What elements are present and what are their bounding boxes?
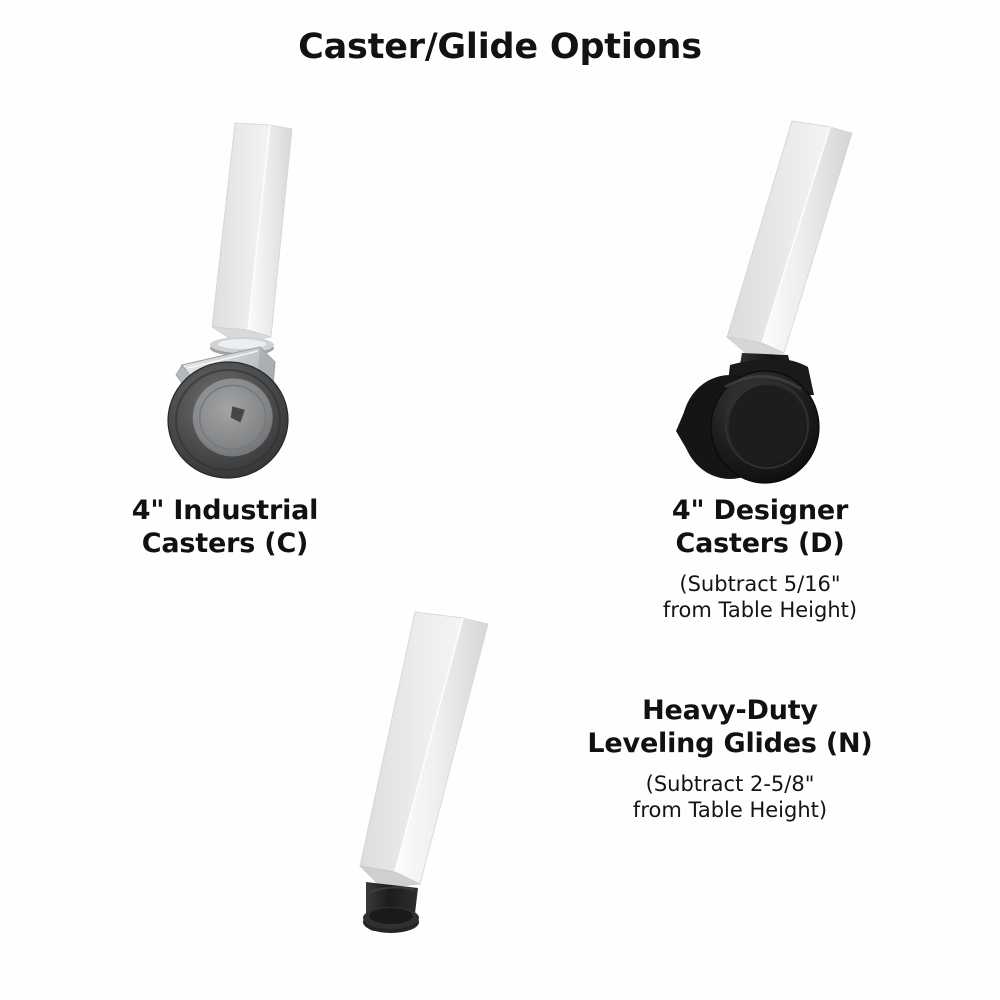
page-title: Caster/Glide Options [0, 28, 1000, 67]
industrial-caster-illustration [140, 115, 360, 485]
designer-caster-illustration [670, 115, 890, 490]
caption-note-glide: (Subtract 2-5/8" from Table Height) [530, 771, 930, 824]
caption-heading-designer: 4" Designer Casters (D) [600, 495, 920, 561]
leveling-glide-illustration [330, 600, 560, 940]
designer-caster-wheels [676, 371, 819, 483]
caption-heading-glide: Heavy-Duty Leveling Glides (N) [530, 695, 930, 761]
table-leg-designer [727, 121, 852, 355]
caption-note-designer: (Subtract 5/16" from Table Height) [600, 571, 920, 624]
table-leg-industrial [212, 123, 292, 344]
caster-glide-options-page: Caster/Glide Options [0, 0, 1000, 1000]
caption-industrial-casters: 4" Industrial Casters (C) [45, 495, 405, 571]
caption-designer-casters: 4" Designer Casters (D) (Subtract 5/16" … [600, 495, 920, 623]
leveling-glide-foot [363, 882, 419, 933]
caption-leveling-glides: Heavy-Duty Leveling Glides (N) (Subtract… [530, 695, 930, 823]
table-leg-glide [360, 612, 488, 888]
caption-heading-industrial: 4" Industrial Casters (C) [45, 495, 405, 561]
